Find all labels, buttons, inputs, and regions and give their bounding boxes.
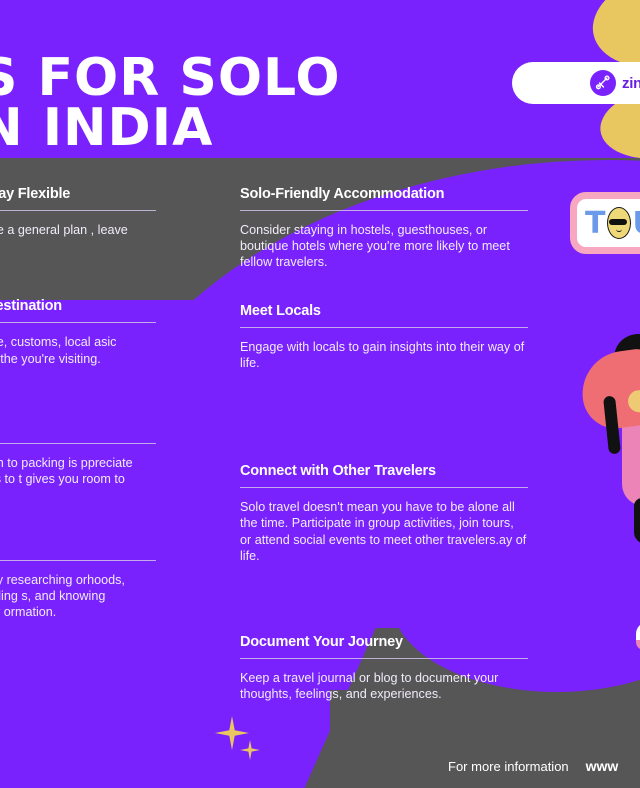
tip-divider — [0, 443, 156, 444]
tip-title: Connect with Other Travelers — [240, 463, 528, 479]
tip-title: n Your Destination — [0, 298, 156, 314]
tip-body: Consider staying in hostels, guesthouses… — [240, 222, 528, 271]
tip-divider — [0, 322, 156, 323]
tips-columns: ad but Stay Flexible ood to have a gener… — [0, 186, 640, 711]
tip-title: Document Your Journey — [240, 634, 528, 650]
tip-divider — [240, 658, 528, 659]
spacer — [0, 262, 156, 298]
footer-url[interactable]: www — [586, 758, 619, 774]
tip-body: t the culture, customs, local asic phras… — [0, 334, 156, 366]
tip-divider — [0, 210, 156, 211]
tips-column-right: Solo-Friendly Accommodation Consider sta… — [240, 186, 528, 711]
tip-divider — [0, 560, 156, 561]
brand-logo-text: zing — [622, 75, 640, 92]
tip-card: ad but Stay Flexible ood to have a gener… — [0, 186, 156, 254]
spacer — [0, 512, 156, 536]
tip-body: ood to have a general plan , leave room … — [0, 222, 156, 254]
tip-divider — [240, 487, 528, 488]
page-title: ST TIPS FOR SOLO AVEL IN INDIA — [0, 53, 470, 154]
tip-card: n Your Destination t the culture, custom… — [0, 298, 156, 366]
tip-card: Connect with Other Travelers Solo travel… — [240, 463, 528, 564]
tip-title: ad but Stay Flexible — [0, 186, 156, 202]
tip-title: rst — [0, 536, 156, 552]
brand-logo[interactable]: zing — [512, 62, 640, 104]
footer-label: For more information — [448, 759, 569, 774]
footer: For more information www — [448, 758, 618, 774]
tip-divider — [240, 327, 528, 328]
spacer — [240, 379, 528, 463]
tip-body: Solo travel doesn't mean you have to be … — [240, 499, 528, 564]
tip-title: Solo-Friendly Accommodation — [240, 186, 528, 202]
tip-title: Meet Locals — [240, 303, 528, 319]
tip-divider — [240, 210, 528, 211]
tip-card: Solo-Friendly Accommodation Consider sta… — [240, 186, 528, 271]
spacer — [0, 375, 156, 419]
tip-card: rst ur safety by researching orhoods, un… — [0, 536, 156, 621]
infographic-poster: ST TIPS FOR SOLO AVEL IN INDIA zing T U — [0, 0, 640, 788]
tip-card: Meet Locals Engage with locals to gain i… — [240, 303, 528, 371]
tip-card: Document Your Journey Keep a travel jour… — [240, 634, 528, 702]
tips-column-left: ad but Stay Flexible ood to have a gener… — [0, 186, 178, 711]
tip-title: ht — [0, 419, 156, 435]
tip-body: Engage with locals to gain insights into… — [240, 339, 528, 371]
tip-body: st approach to packing is ppreciate havi… — [0, 455, 156, 504]
tip-body: Keep a travel journal or blog to documen… — [240, 670, 528, 702]
spacer — [240, 279, 528, 303]
page-title-line-2: AVEL IN INDIA — [0, 103, 470, 153]
spacer — [240, 572, 528, 634]
tip-body: ur safety by researching orhoods, unders… — [0, 572, 156, 621]
tip-card: ht st approach to packing is ppreciate h… — [0, 419, 156, 504]
zingbus-mark-icon — [590, 70, 616, 96]
